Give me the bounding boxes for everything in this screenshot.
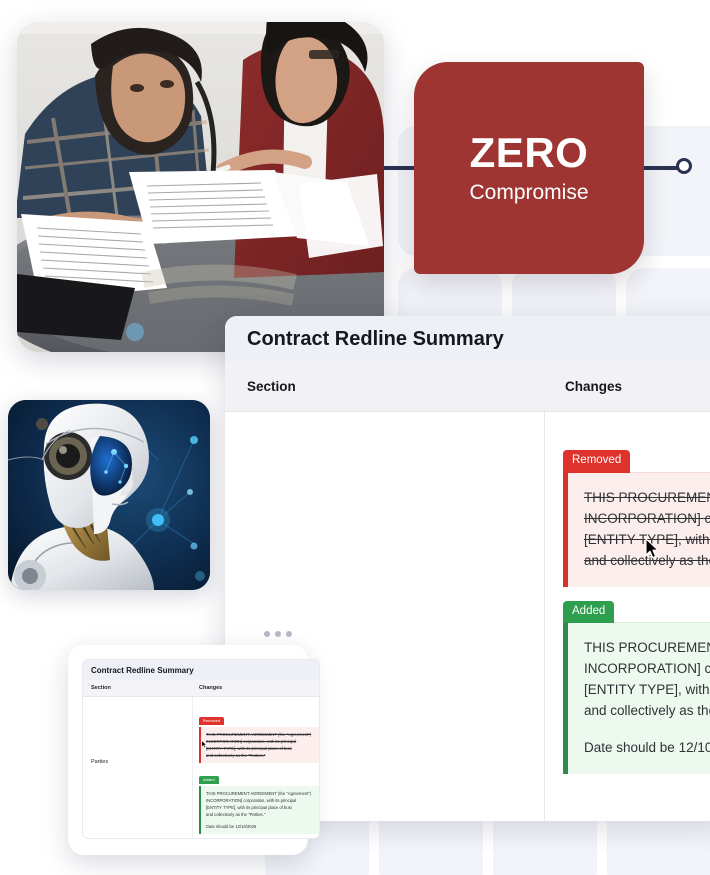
mini-column-header-section: Section (83, 685, 193, 691)
promo-composition: ZERO Compromise Contract Redline Summary… (0, 0, 710, 875)
diff-added-text: THIS PROCUREMENT AGREEMENT (the "Agreeme… (563, 622, 710, 774)
changes-cell: Removed THIS PROCUREMENT AGREEMENT (the … (545, 412, 710, 821)
diff-line: and collectively as the "Parties." (584, 700, 710, 721)
mini-diff-line: THIS PROCUREMENT AGREEMENT (the "Agreeme… (206, 790, 319, 797)
diff-line: INCORPORATION] corporation, with its pri… (584, 508, 710, 529)
mini-table-header-row: Section Changes (83, 680, 319, 697)
column-header-section: Section (225, 379, 545, 394)
meeting-photo (17, 22, 384, 352)
mini-diff-line: INCORPORATION] corporation, with its pri… (206, 797, 319, 804)
page-title: Contract Redline Summary (247, 328, 504, 351)
mini-diff-line: and collectively as the "Parties." (206, 752, 319, 759)
mini-section-cell: Parties (83, 697, 193, 839)
mini-panel-titlebar: Contract Redline Summary (83, 660, 319, 680)
mini-changes-cell: Removed THIS PROCUREMENT AGREEMENT (the … (193, 697, 319, 839)
badge-title: ZERO (470, 131, 589, 175)
circle-endpoint-icon (676, 158, 692, 174)
mini-diff-removed-text: THIS PROCUREMENT AGREEMENT (the "Agreeme… (199, 727, 319, 763)
mini-status-badge-removed: Removed (199, 717, 224, 725)
window-dots-icon (264, 631, 292, 637)
mini-diff-line: [ENTITY TYPE], with its principal place … (206, 745, 319, 752)
mini-contract-redline-panel: Contract Redline Summary Section Changes… (82, 659, 320, 839)
diff-line: [ENTITY TYPE], with its principal place … (584, 679, 710, 700)
diff-line: [ENTITY TYPE], with its principal place … (584, 529, 710, 550)
robot-photo (8, 400, 210, 590)
badge-subtitle: Compromise (469, 181, 588, 205)
mini-column-header-changes: Changes (193, 685, 319, 691)
diff-removed-group: Removed THIS PROCUREMENT AGREEMENT (the … (563, 450, 710, 587)
mini-page-title: Contract Redline Summary (91, 666, 194, 675)
tablet-mockup: Contract Redline Summary Section Changes… (68, 645, 308, 855)
diff-added-group: Added THIS PROCUREMENT AGREEMENT (the "A… (563, 601, 710, 775)
mini-status-badge-added: Added (199, 776, 219, 784)
mini-mouse-pointer-icon (201, 736, 208, 745)
mini-diff-line: and collectively as the "Parties." (206, 811, 319, 818)
panel-titlebar: Contract Redline Summary (225, 316, 710, 362)
mini-diff-added-text: THIS PROCUREMENT AGREEMENT (the "Agreeme… (199, 786, 319, 834)
diff-note: Date should be 12/10/2025 (584, 737, 710, 758)
diff-line: THIS PROCUREMENT AGREEMENT (the "Agreeme… (584, 487, 710, 508)
diff-removed-text: THIS PROCUREMENT AGREEMENT (the "Agreeme… (563, 472, 710, 587)
mini-diff-line: [ENTITY TYPE], with its principal place … (206, 804, 319, 811)
diff-line: INCORPORATION] corporation, with its pri… (584, 658, 710, 679)
status-badge-removed: Removed (563, 450, 630, 473)
mini-diff-note: Date should be 12/10/2025 (206, 823, 319, 830)
diff-line: THIS PROCUREMENT AGREEMENT (the "Agreeme… (584, 637, 710, 658)
zero-compromise-badge: ZERO Compromise (414, 62, 644, 274)
column-header-changes: Changes (545, 379, 710, 394)
mini-table-row: Parties Removed THIS PROCUREMENT AGREEME… (83, 697, 319, 839)
diff-line: and collectively as the "Parties." (584, 550, 710, 571)
status-badge-added: Added (563, 601, 614, 624)
table-header-row: Section Changes (225, 362, 710, 412)
diff-spacer (563, 587, 710, 601)
mini-section-name: Parties (91, 759, 108, 765)
mini-diff-line: INCORPORATION] corporation, with its pri… (206, 738, 319, 745)
mini-diff-spacer (199, 763, 319, 768)
mini-diff-line: THIS PROCUREMENT AGREEMENT (the "Agreeme… (206, 731, 319, 738)
